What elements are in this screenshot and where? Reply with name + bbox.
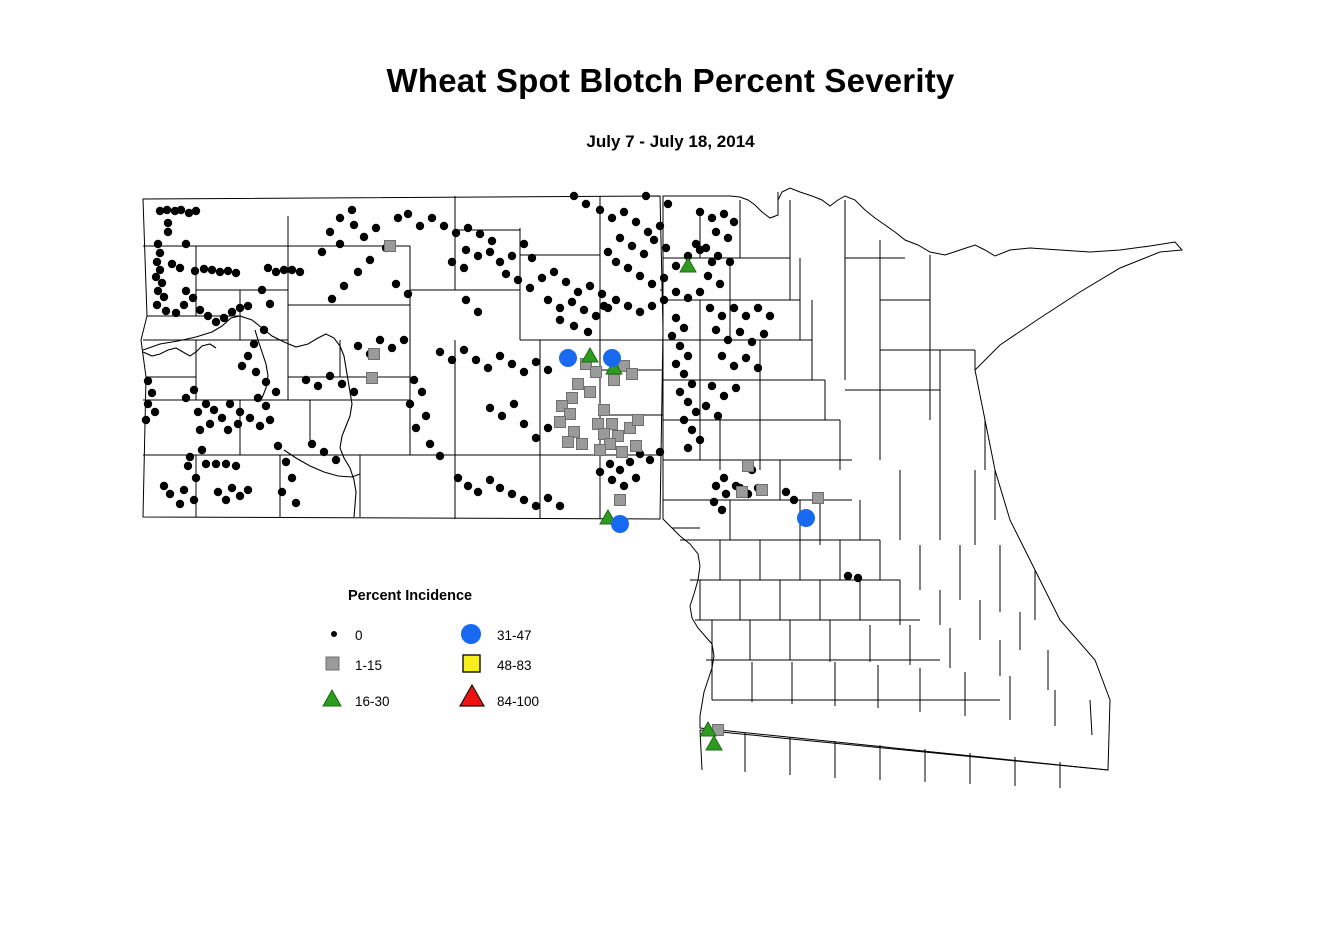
data-point-1-15: [573, 379, 584, 390]
data-point-1-15: [567, 393, 578, 404]
data-point-0: [266, 300, 274, 308]
data-point-0: [348, 206, 356, 214]
data-point-1-15: [607, 419, 618, 430]
data-point-0: [236, 408, 244, 416]
data-point-0: [656, 222, 664, 230]
data-point-0: [258, 286, 266, 294]
data-point-0: [596, 206, 604, 214]
data-point-1-15: [565, 409, 576, 420]
data-point-0: [684, 294, 692, 302]
data-point-0: [250, 340, 258, 348]
data-point-0: [708, 258, 716, 266]
data-point-0: [724, 234, 732, 242]
data-point-16-30: [706, 736, 722, 750]
data-point-0: [708, 382, 716, 390]
data-point-0: [222, 460, 230, 468]
legend-label-31-47: 31-47: [497, 628, 532, 643]
data-point-0: [166, 490, 174, 498]
data-point-0: [278, 488, 286, 496]
data-point-1-15: [593, 419, 604, 430]
data-point-0: [664, 200, 672, 208]
data-point-0: [718, 312, 726, 320]
data-point-0: [224, 267, 232, 275]
data-point-0: [720, 474, 728, 482]
data-point-1-15: [605, 439, 616, 450]
data-point-0: [508, 252, 516, 260]
data-point-0: [354, 268, 362, 276]
data-point-0: [722, 490, 730, 498]
data-point-0: [186, 453, 194, 461]
data-point-0: [218, 414, 226, 422]
data-point-0: [296, 268, 304, 276]
data-point-0: [340, 282, 348, 290]
data-point-0: [222, 496, 230, 504]
data-point-0: [696, 288, 704, 296]
data-point-0: [718, 506, 726, 514]
data-point-0: [308, 440, 316, 448]
data-point-0: [182, 240, 190, 248]
data-point-0: [338, 380, 346, 388]
data-point-0: [730, 304, 738, 312]
data-point-0: [196, 426, 204, 434]
data-point-0: [562, 278, 570, 286]
data-point-0: [754, 364, 762, 372]
data-point-0: [730, 362, 738, 370]
data-point-0: [520, 240, 528, 248]
data-point-0: [584, 328, 592, 336]
data-point-0: [708, 214, 716, 222]
data-point-0: [422, 412, 430, 420]
data-point-0: [452, 229, 460, 237]
data-point-0: [484, 364, 492, 372]
data-point-0: [660, 274, 668, 282]
data-point-0: [328, 295, 336, 303]
data-point-31-47: [559, 349, 577, 367]
data-point-0: [228, 484, 236, 492]
legend-symbol-green-triangle: [323, 690, 341, 706]
data-point-0: [180, 486, 188, 494]
data-point-0: [624, 302, 632, 310]
data-point-0: [604, 248, 612, 256]
data-point-0: [388, 344, 396, 352]
data-point-0: [528, 254, 536, 262]
data-point-1-15: [369, 349, 380, 360]
data-point-0: [232, 462, 240, 470]
data-point-0: [710, 498, 718, 506]
data-point-0: [668, 332, 676, 340]
data-point-1-15: [617, 447, 628, 458]
data-point-0: [350, 388, 358, 396]
data-point-1-15: [367, 373, 378, 384]
data-point-0: [742, 312, 750, 320]
data-point-0: [274, 442, 282, 450]
data-point-0: [336, 240, 344, 248]
data-point-0: [714, 252, 722, 260]
data-point-0: [154, 240, 162, 248]
data-point-0: [646, 456, 654, 464]
data-point-0: [156, 249, 164, 257]
data-point-0: [608, 214, 616, 222]
data-point-0: [844, 572, 852, 580]
data-point-0: [520, 368, 528, 376]
data-point-0: [172, 309, 180, 317]
data-point-0: [220, 314, 228, 322]
data-point-0: [712, 482, 720, 490]
data-point-0: [216, 268, 224, 276]
data-point-0: [612, 258, 620, 266]
data-point-0: [696, 208, 704, 216]
data-point-0: [366, 256, 374, 264]
data-point-0: [496, 484, 504, 492]
data-point-0: [714, 412, 722, 420]
data-point-0: [684, 352, 692, 360]
data-point-0: [160, 293, 168, 301]
data-point-0: [410, 376, 418, 384]
data-point-0: [632, 474, 640, 482]
data-point-0: [718, 352, 726, 360]
data-point-0: [198, 446, 206, 454]
data-point-0: [748, 338, 756, 346]
data-point-1-15: [599, 405, 610, 416]
data-point-0: [320, 448, 328, 456]
data-point-0: [606, 460, 614, 468]
data-point-0: [454, 474, 462, 482]
data-point-0: [532, 434, 540, 442]
data-point-0: [182, 394, 190, 402]
data-point-0: [508, 360, 516, 368]
data-point-0: [544, 424, 552, 432]
data-point-0: [680, 370, 688, 378]
data-point-0: [620, 482, 628, 490]
data-point-0: [464, 482, 472, 490]
data-point-0: [662, 244, 670, 252]
legend-label-48-83: 48-83: [497, 658, 532, 673]
data-point-1-15: [737, 487, 748, 498]
data-point-0: [696, 246, 704, 254]
data-point-0: [288, 266, 296, 274]
data-point-0: [302, 376, 310, 384]
data-point-0: [226, 400, 234, 408]
data-point-0: [256, 422, 264, 430]
data-point-0: [234, 420, 242, 428]
data-point-0: [672, 360, 680, 368]
data-point-0: [176, 500, 184, 508]
data-point-0: [608, 476, 616, 484]
data-point-0: [436, 452, 444, 460]
data-point-0: [538, 274, 546, 282]
data-point-0: [412, 424, 420, 432]
data-point-0: [680, 416, 688, 424]
data-point-0: [498, 412, 506, 420]
data-point-0: [436, 348, 444, 356]
data-point-0: [153, 258, 161, 266]
data-point-0: [616, 234, 624, 242]
data-point-0: [642, 192, 650, 200]
data-point-0: [508, 490, 516, 498]
data-point-1-15: [631, 441, 642, 452]
data-point-0: [228, 308, 236, 316]
data-point-0: [262, 402, 270, 410]
data-point-0: [142, 416, 150, 424]
data-point-0: [702, 402, 710, 410]
data-point-0: [636, 308, 644, 316]
data-point-0: [502, 270, 510, 278]
data-point-0: [716, 280, 724, 288]
data-point-0: [262, 378, 270, 386]
data-point-1-15: [813, 493, 824, 504]
data-point-0: [462, 246, 470, 254]
data-point-0: [426, 440, 434, 448]
data-point-0: [742, 354, 750, 362]
data-point-0: [596, 468, 604, 476]
data-point-0: [720, 210, 728, 218]
data-point-1-15: [627, 369, 638, 380]
data-point-1-15: [609, 375, 620, 386]
data-point-0: [684, 444, 692, 452]
data-point-0: [580, 306, 588, 314]
data-point-0: [336, 214, 344, 222]
data-point-31-47: [603, 349, 621, 367]
data-point-0: [418, 388, 426, 396]
data-point-0: [190, 386, 198, 394]
data-point-0: [644, 228, 652, 236]
data-point-1-15: [585, 387, 596, 398]
data-point-0: [736, 328, 744, 336]
data-point-0: [556, 316, 564, 324]
data-point-0: [148, 389, 156, 397]
data-point-0: [326, 372, 334, 380]
data-point-0: [460, 264, 468, 272]
data-point-0: [168, 260, 176, 268]
data-point-0: [660, 296, 668, 304]
data-point-1-15: [757, 485, 768, 496]
data-point-0: [190, 496, 198, 504]
data-point-0: [556, 502, 564, 510]
data-point-0: [416, 222, 424, 230]
data-point-0: [624, 264, 632, 272]
legend: Percent Incidence 0 1-15 16-30 31-47 48-…: [323, 588, 539, 709]
data-point-0: [440, 222, 448, 230]
data-point-0: [200, 265, 208, 273]
map-page: Wheat Spot Blotch Percent Severity July …: [0, 0, 1341, 926]
data-point-1-15: [577, 439, 588, 450]
data-point-0: [232, 269, 240, 277]
data-point-0: [406, 400, 414, 408]
data-point-0: [260, 326, 268, 334]
data-point-1-15: [615, 495, 626, 506]
legend-label-16-30: 16-30: [355, 694, 390, 709]
data-point-0: [372, 224, 380, 232]
data-point-0: [236, 492, 244, 500]
data-point-0: [520, 420, 528, 428]
data-point-31-47: [611, 515, 629, 533]
data-point-0: [510, 400, 518, 408]
data-point-1-15: [563, 437, 574, 448]
legend-label-0: 0: [355, 628, 363, 643]
data-point-0: [151, 408, 159, 416]
data-point-0: [704, 272, 712, 280]
data-point-0: [160, 482, 168, 490]
data-point-0: [332, 456, 340, 464]
data-point-0: [532, 358, 540, 366]
data-point-0: [648, 280, 656, 288]
data-point-0: [598, 290, 606, 298]
data-point-0: [244, 352, 252, 360]
data-point-0: [472, 356, 480, 364]
data-point-0: [350, 221, 358, 229]
data-point-0: [476, 230, 484, 238]
data-point-0: [650, 236, 658, 244]
legend-label-84-100: 84-100: [497, 694, 539, 709]
data-point-0: [496, 258, 504, 266]
data-point-0: [272, 268, 280, 276]
data-point-0: [688, 426, 696, 434]
data-point-0: [724, 336, 732, 344]
data-point-0: [189, 294, 197, 302]
data-point-31-47: [797, 509, 815, 527]
data-point-0: [640, 250, 648, 258]
data-point-0: [672, 288, 680, 296]
data-point-0: [404, 210, 412, 218]
data-point-0: [282, 458, 290, 466]
data-point-0: [790, 496, 798, 504]
data-point-0: [544, 494, 552, 502]
data-point-0: [782, 488, 790, 496]
data-point-0: [486, 404, 494, 412]
legend-symbol-yellow-square: [463, 655, 480, 672]
data-point-0: [236, 304, 244, 312]
data-point-0: [318, 248, 326, 256]
data-point-0: [224, 426, 232, 434]
data-point-0: [620, 208, 628, 216]
data-point-0: [612, 296, 620, 304]
data-point-0: [568, 298, 576, 306]
data-point-0: [656, 448, 664, 456]
data-point-0: [266, 416, 274, 424]
data-point-0: [182, 287, 190, 295]
data-point-0: [474, 308, 482, 316]
data-point-0: [196, 306, 204, 314]
data-point-0: [526, 284, 534, 292]
data-point-0: [210, 406, 218, 414]
data-point-0: [180, 301, 188, 309]
data-point-0: [532, 502, 540, 510]
data-point-0: [238, 362, 246, 370]
legend-label-1-15: 1-15: [355, 658, 382, 673]
data-point-0: [376, 336, 384, 344]
data-point-0: [556, 304, 564, 312]
data-point-0: [460, 346, 468, 354]
data-point-0: [244, 302, 252, 310]
legend-symbol-blue-circle: [461, 624, 481, 644]
data-point-0: [164, 228, 172, 236]
data-point-0: [628, 242, 636, 250]
data-point-0: [474, 488, 482, 496]
data-point-0: [688, 380, 696, 388]
data-point-0: [550, 268, 558, 276]
data-point-0: [214, 488, 222, 496]
data-point-0: [676, 342, 684, 350]
data-point-1-15: [385, 241, 396, 252]
data-point-0: [288, 474, 296, 482]
data-point-0: [486, 476, 494, 484]
legend-symbol-red-triangle: [460, 685, 484, 706]
data-point-0: [360, 233, 368, 241]
data-point-0: [474, 252, 482, 260]
data-point-0: [684, 398, 692, 406]
data-point-0: [176, 264, 184, 272]
data-point-0: [760, 330, 768, 338]
data-point-0: [184, 462, 192, 470]
data-point-0: [696, 436, 704, 444]
data-point-1-15: [569, 427, 580, 438]
data-point-0: [730, 218, 738, 226]
data-point-0: [354, 342, 362, 350]
data-point-0: [486, 248, 494, 256]
data-point-0: [632, 218, 640, 226]
data-point-1-15: [633, 415, 644, 426]
data-point-0: [144, 400, 152, 408]
data-point-0: [158, 279, 166, 287]
data-point-0: [404, 290, 412, 298]
data-point-0: [246, 414, 254, 422]
data-point-0: [204, 312, 212, 320]
data-point-1-15: [591, 367, 602, 378]
data-point-0: [164, 219, 172, 227]
data-point-0: [212, 460, 220, 468]
data-point-0: [428, 214, 436, 222]
data-point-0: [496, 352, 504, 360]
data-point-0: [726, 258, 734, 266]
data-point-0: [462, 296, 470, 304]
data-point-0: [448, 258, 456, 266]
data-point-0: [177, 206, 185, 214]
data-point-0: [672, 262, 680, 270]
data-point-0: [394, 214, 402, 222]
data-point-0: [448, 356, 456, 364]
data-point-0: [392, 280, 400, 288]
data-point-0: [706, 304, 714, 312]
data-point-0: [574, 288, 582, 296]
data-point-0: [202, 400, 210, 408]
data-point-0: [244, 486, 252, 494]
data-point-0: [720, 392, 728, 400]
data-point-0: [766, 312, 774, 320]
data-point-0: [520, 496, 528, 504]
map-canvas: Percent Incidence 0 1-15 16-30 31-47 48-…: [0, 0, 1341, 926]
data-point-0: [280, 266, 288, 274]
data-point-1-15: [555, 417, 566, 428]
data-point-0: [636, 272, 644, 280]
data-point-0: [570, 322, 578, 330]
data-point-0: [592, 312, 600, 320]
data-point-0: [544, 366, 552, 374]
data-point-1-15: [599, 429, 610, 440]
data-point-0: [676, 388, 684, 396]
data-point-0: [272, 388, 280, 396]
data-point-0: [464, 224, 472, 232]
data-point-0: [672, 314, 680, 322]
data-point-0: [692, 408, 700, 416]
data-point-0: [616, 466, 624, 474]
data-point-0: [712, 228, 720, 236]
data-point-1-15: [743, 461, 754, 472]
data-point-0: [626, 458, 634, 466]
data-point-0: [264, 264, 272, 272]
data-point-0: [854, 574, 862, 582]
data-point-0: [570, 192, 578, 200]
data-point-0: [514, 276, 522, 284]
